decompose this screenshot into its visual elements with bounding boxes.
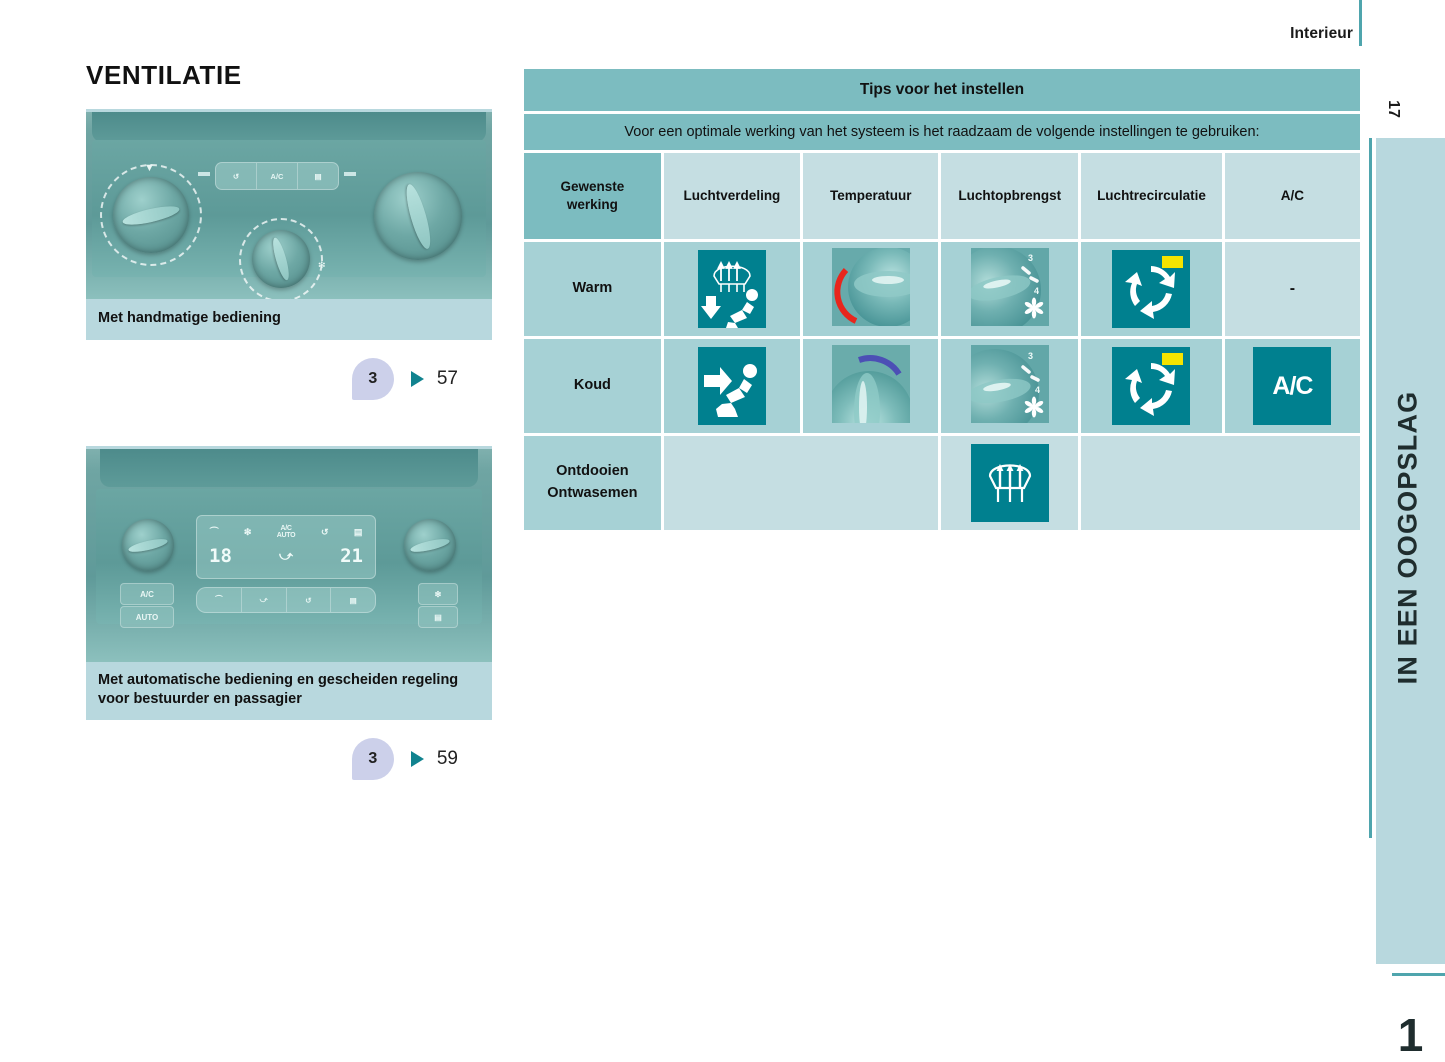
ref-chapter-bubble: 3 bbox=[352, 358, 394, 400]
center-button-strip[interactable]: ⏜ ⤻ ↺ ▤ bbox=[196, 587, 376, 613]
ref-chapter-bubble: 3 bbox=[352, 738, 394, 780]
indicator-right bbox=[344, 172, 356, 176]
section-number: 1 bbox=[1376, 1008, 1445, 1062]
section-accent-rule bbox=[1369, 138, 1372, 838]
page-ref-automatic[interactable]: 3 59 bbox=[86, 738, 492, 780]
cell-ontdooien-luchtopbrengst bbox=[941, 436, 1078, 530]
temperature-knob-cold bbox=[832, 410, 910, 427]
ref-page-number: 59 bbox=[437, 748, 458, 770]
table-row-warm: Warm bbox=[524, 242, 1360, 336]
table-title-row: Tips voor het instellen bbox=[524, 69, 1360, 111]
cell-ontdooien-left-span bbox=[664, 436, 939, 530]
recirculation-button[interactable]: ↺ bbox=[287, 588, 332, 612]
cell-koud-luchtrecirculatie bbox=[1081, 339, 1222, 433]
page-number: 17 bbox=[1384, 100, 1402, 118]
ac-button[interactable]: A/C bbox=[120, 583, 174, 605]
recirculation-icon: ↺ bbox=[321, 527, 328, 538]
column-header-line1: Gewenste bbox=[524, 178, 661, 196]
ref-arrow-icon bbox=[411, 751, 424, 767]
tips-table: Tips voor het instellen Voor een optimal… bbox=[521, 66, 1363, 533]
fan-speed-knob-medium: 3 4 bbox=[971, 313, 1049, 330]
page-ref-manual[interactable]: 3 57 bbox=[86, 358, 492, 400]
table-row-koud: Koud bbox=[524, 339, 1360, 433]
figure-caption-automatic: Met automatische bediening en gescheiden… bbox=[86, 662, 492, 720]
airflow-diagram-icon: ⤻ bbox=[279, 549, 293, 564]
column-header-luchtrecirculatie: Luchtrecirculatie bbox=[1081, 153, 1222, 239]
section-divider bbox=[1392, 973, 1445, 976]
page-title: VENTILATIE bbox=[86, 60, 492, 91]
section-tab: IN EEN OOGOPSLAG 1 bbox=[1376, 138, 1445, 964]
climate-lcd-display: ⏜ ❇ A/CAUTO ↺ ▤ 18 ⤻ 21 bbox=[196, 515, 376, 579]
max-cool-button[interactable]: ❇ bbox=[418, 583, 458, 605]
row-label-koud: Koud bbox=[524, 339, 661, 433]
manual-climate-control-panel-image: ▼ ❇ ↺ A/C ▤ bbox=[86, 109, 492, 299]
section-title: IN EEN OOGOPSLAG bbox=[1393, 218, 1424, 858]
page-header: Interieur bbox=[0, 0, 1445, 56]
windscreen-defrost-icon: ⏜ bbox=[210, 527, 218, 538]
windscreen-defrost-and-footwell-icon bbox=[698, 250, 766, 328]
windscreen-defrost-icon: ▼ bbox=[144, 162, 155, 174]
rear-defrost-button[interactable]: ▤ bbox=[418, 606, 458, 628]
lcd-temperatures: 18 ⤻ 21 bbox=[197, 542, 375, 570]
column-header-gewenste-werking: Gewenste werking bbox=[524, 153, 661, 239]
cell-warm-luchtrecirculatie bbox=[1081, 242, 1222, 336]
ac-auto-label: A/CAUTO bbox=[277, 525, 296, 539]
recirculation-button[interactable]: ↺ bbox=[216, 163, 257, 189]
row-label-line1: Ontdooien bbox=[524, 461, 661, 483]
temperature-knob-hot bbox=[832, 313, 910, 330]
rear-defrost-button[interactable]: ▤ bbox=[298, 163, 338, 189]
cell-warm-luchtverdeling bbox=[664, 242, 800, 336]
column-header-temperatuur: Temperatuur bbox=[803, 153, 938, 239]
figure-manual-climate-control: ▼ ❇ ↺ A/C ▤ Met handmatige bediening bbox=[86, 109, 492, 340]
cell-warm-luchtopbrengst: 3 4 bbox=[941, 242, 1078, 336]
column-header-ac: A/C bbox=[1225, 153, 1360, 239]
fan-speed-knob[interactable] bbox=[252, 230, 310, 288]
right-sidebar: 17 IN EEN OOGOPSLAG 1 bbox=[1362, 0, 1445, 964]
cell-koud-luchtopbrengst: 3 4 bbox=[941, 339, 1078, 433]
row-label-warm: Warm bbox=[524, 242, 661, 336]
cell-warm-ac: - bbox=[1225, 242, 1360, 336]
auto-button[interactable]: AUTO bbox=[120, 606, 174, 628]
fan-speed-knob-medium: 3 4 bbox=[971, 410, 1049, 427]
cell-ontdooien-right-span bbox=[1081, 436, 1360, 530]
table-title: Tips voor het instellen bbox=[524, 69, 1360, 111]
cell-warm-ac-value: - bbox=[1290, 280, 1295, 297]
row-label-ontdooien: Ontdooien Ontwasemen bbox=[524, 436, 661, 530]
windscreen-defrost-icon bbox=[971, 444, 1049, 522]
face-and-footwell-vent-icon bbox=[698, 347, 766, 425]
left-column: VENTILATIE ▼ ❇ ↺ A/C ▤ Met bbox=[86, 60, 492, 780]
cell-warm-temperatuur bbox=[803, 242, 938, 336]
cell-koud-temperatuur bbox=[803, 339, 938, 433]
row-label-line2: Ontwasemen bbox=[524, 483, 661, 505]
rear-defrost-icon: ▤ bbox=[354, 527, 362, 538]
passenger-temperature-value: 21 bbox=[340, 545, 363, 567]
driver-temperature-knob[interactable] bbox=[122, 519, 174, 571]
ac-tile: A/C bbox=[1253, 347, 1331, 425]
figure-caption-manual: Met handmatige bediening bbox=[86, 299, 492, 340]
figure-automatic-climate-control: ⏜ ❇ A/CAUTO ↺ ▤ 18 ⤻ 21 A/C AUTO ⏜ ⤻ bbox=[86, 446, 492, 720]
header-title: Interieur bbox=[1290, 25, 1353, 43]
column-header-luchtverdeling: Luchtverdeling bbox=[664, 153, 800, 239]
column-header-line2: werking bbox=[524, 196, 661, 214]
recirculation-led-indicator bbox=[1162, 256, 1183, 268]
ref-arrow-icon bbox=[411, 371, 424, 387]
fan-icon: ❇ bbox=[244, 527, 251, 538]
ref-page-number: 57 bbox=[437, 368, 458, 390]
automatic-climate-control-panel-image: ⏜ ❇ A/CAUTO ↺ ▤ 18 ⤻ 21 A/C AUTO ⏜ ⤻ bbox=[86, 446, 492, 662]
lcd-status-icons: ⏜ ❇ A/CAUTO ↺ ▤ bbox=[197, 523, 375, 541]
recirculation-led-indicator bbox=[1162, 353, 1183, 365]
ac-tile-label: A/C bbox=[1272, 372, 1312, 400]
recirculation-on-icon bbox=[1112, 347, 1190, 425]
panel-top-lip bbox=[100, 449, 478, 487]
passenger-temperature-knob[interactable] bbox=[404, 519, 456, 571]
table-intro-row: Voor een optimale werking van het systee… bbox=[524, 114, 1360, 150]
button-strip[interactable]: ↺ A/C ▤ bbox=[215, 162, 339, 190]
table-intro: Voor een optimale werking van het systee… bbox=[524, 114, 1360, 150]
temperature-knob[interactable] bbox=[374, 172, 462, 260]
column-header-luchtopbrengst: Luchtopbrengst bbox=[941, 153, 1078, 239]
air-distribution-button[interactable]: ⤻ bbox=[242, 588, 287, 612]
ac-button[interactable]: A/C bbox=[257, 163, 298, 189]
fan-icon: ❇ bbox=[318, 260, 326, 271]
air-distribution-knob[interactable] bbox=[113, 177, 189, 253]
rear-defrost-button[interactable]: ▤ bbox=[331, 588, 375, 612]
cell-koud-ac: A/C bbox=[1225, 339, 1360, 433]
driver-temperature-value: 18 bbox=[209, 545, 232, 567]
table-row-ontdooien: Ontdooien Ontwasemen bbox=[524, 436, 1360, 530]
table-header-row: Gewenste werking Luchtverdeling Temperat… bbox=[524, 153, 1360, 239]
panel-top-lip bbox=[92, 112, 486, 142]
recirculation-on-icon bbox=[1112, 250, 1190, 328]
cell-koud-luchtverdeling bbox=[664, 339, 800, 433]
windscreen-defrost-button[interactable]: ⏜ bbox=[197, 588, 242, 612]
indicator-left bbox=[198, 172, 210, 176]
